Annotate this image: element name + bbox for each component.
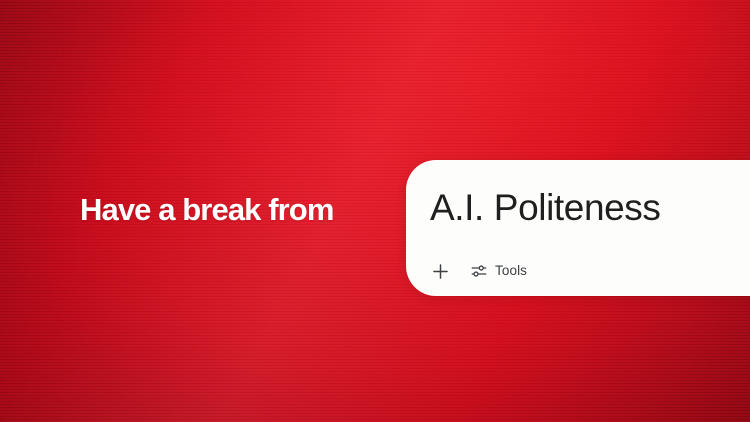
tune-sliders-icon	[470, 262, 488, 280]
tools-label: Tools	[495, 264, 527, 278]
plus-icon	[430, 261, 451, 282]
search-card[interactable]: A.I. Politeness	[406, 160, 750, 296]
headline-text: Have a break from	[80, 190, 400, 230]
promo-banner: Have a break from A.I. Politeness	[0, 0, 750, 422]
tools-button[interactable]: Tools	[464, 257, 533, 285]
search-actions-row: Tools	[426, 257, 533, 285]
add-button[interactable]	[426, 257, 454, 285]
search-query-text[interactable]: A.I. Politeness	[430, 186, 661, 230]
